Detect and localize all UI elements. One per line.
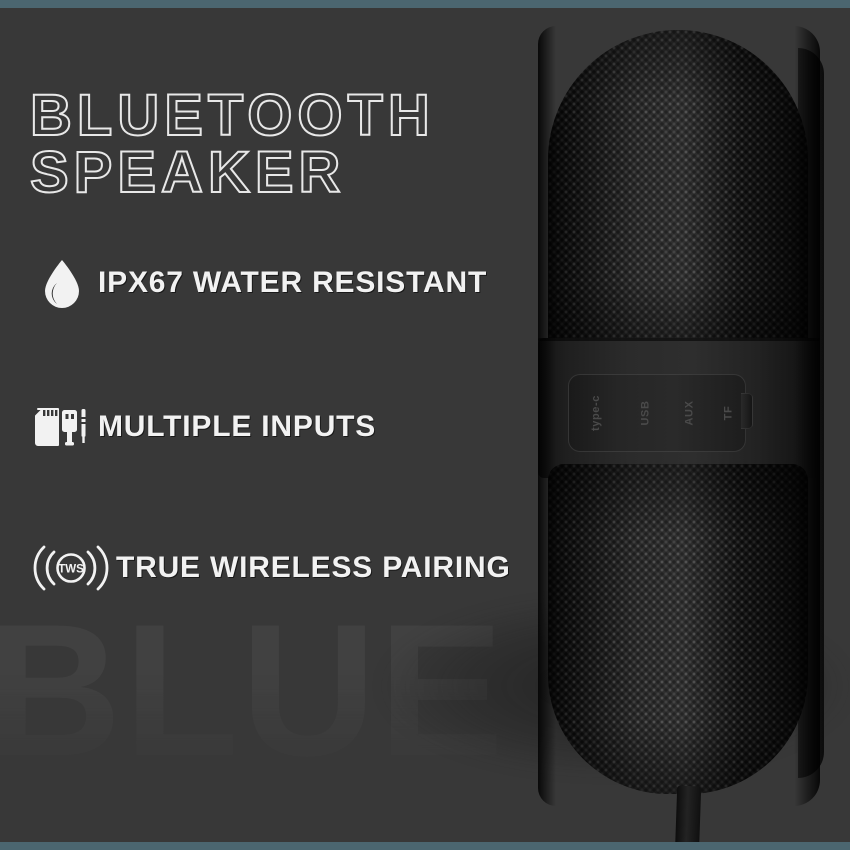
middle-band-top-edge [538, 338, 820, 341]
port-label-tf: TF [722, 406, 734, 421]
tws-icon-text: TWS [58, 564, 84, 576]
speaker-carry-strap [675, 786, 701, 850]
feature-item-true-wireless-pairing: TWS TRUE WIRELESS PAIRING [34, 540, 511, 596]
port-label-usb: USB [640, 400, 652, 425]
headline-line-1: BLUETOOTH [30, 88, 435, 145]
feature-label-true-wireless-pairing: TRUE WIRELESS PAIRING [116, 551, 511, 585]
port-label-aux: AUX [684, 400, 696, 425]
multiple-inputs-icon [34, 399, 90, 455]
speaker-port-cover: type-c USB AUX TF [568, 374, 746, 452]
water-drop-icon [34, 255, 90, 311]
port-label-type-c: type-c [590, 395, 602, 431]
lower-grille-vertical-shading [548, 464, 808, 794]
feature-item-water-resistant: IPX67 WATER RESISTANT [34, 255, 487, 311]
speaker-product-image: type-c USB AUX TF [498, 8, 850, 850]
speaker-lower-grille [548, 464, 808, 794]
product-ad-canvas: BLUE type-c USB AUX TF BLUETOOTH SPEAKER [0, 0, 850, 850]
headline-line-2: SPEAKER [30, 145, 435, 202]
top-accent-bar [0, 0, 850, 8]
feature-label-multiple-inputs: MULTIPLE INPUTS [98, 410, 376, 444]
tws-wireless-icon: TWS [34, 540, 108, 596]
port-cover-pull-tab [741, 393, 753, 429]
feature-label-water-resistant: IPX67 WATER RESISTANT [98, 266, 487, 300]
page-title: BLUETOOTH SPEAKER [30, 88, 435, 202]
speaker-upper-grille [548, 30, 808, 352]
feature-item-multiple-inputs: MULTIPLE INPUTS [34, 399, 376, 455]
upper-grille-vertical-shading [548, 30, 808, 352]
bottom-accent-bar [0, 842, 850, 850]
